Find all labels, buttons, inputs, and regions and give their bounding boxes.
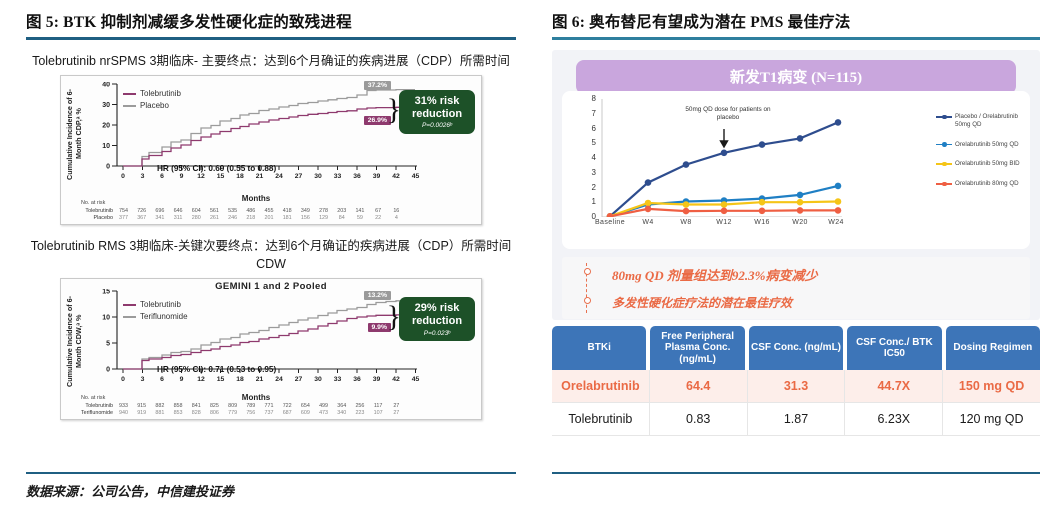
km-chart-2-ylabel: Cumulative Incidence of 6-Month CDW,ᵃ % [65, 291, 87, 391]
svg-text:12: 12 [197, 173, 205, 180]
t1-chart-x-ticks: Baseline W4 W8 W12 W16 W20 W24 [600, 219, 842, 233]
study-1-heading: Tolebrutinib nrSPMS 3期临床- 主要终点：达到6个月确证的疾… [26, 52, 516, 70]
cell-orelabrutinib-name: Orelabrutinib [552, 370, 650, 403]
svg-text:15: 15 [217, 173, 225, 180]
cell-tolebrutinib-dosing: 120 mg QD [943, 403, 1040, 436]
svg-text:18: 18 [236, 173, 244, 180]
svg-text:27: 27 [295, 173, 303, 180]
km-chart-1-legend: Tolebrutinib Placebo [123, 88, 181, 112]
study-2-heading: Tolebrutinib RMS 3期临床-关键次要终点：达到6个月确证的疾病进… [26, 237, 516, 273]
svg-text:24: 24 [275, 376, 283, 383]
svg-text:6: 6 [160, 173, 164, 180]
figure-6-title: 图 6: 奥布替尼有望成为潜在 PMS 最佳疗法 [552, 10, 1040, 36]
at-risk-table-2: No. at risk Tolebrutinib 933915882858841… [67, 395, 477, 417]
btki-comparison-table: BTKi Free Peripheral Plasma Conc.(ng/mL)… [552, 326, 1040, 436]
svg-text:30: 30 [102, 102, 110, 109]
cell-orelabrutinib-csf: 31.3 [748, 370, 846, 403]
legend-swatch-teriflunomide [123, 316, 136, 318]
km-chart-2-legend: Tolebrutinib Teriflunomide [123, 299, 188, 323]
figure-5-footer-rule [26, 472, 516, 474]
at-risk-row-name: Teriflunomide [67, 410, 113, 417]
figure-5-panel: 图 5: BTK 抑制剂减缓多发性硬化症的致残进程 Tolebrutinib n… [0, 0, 530, 510]
legend-item-placebo-orelabrutinib: Placebo / Orelabrutinib 50mg QD [936, 113, 1022, 129]
t1-chart-annotation: 50mg QD dose for patients on placebo [680, 106, 776, 123]
at-risk-row-name: Tolebrutinib [67, 208, 113, 215]
at-risk-row-name: Tolebrutinib [67, 403, 113, 410]
cell-tolebrutinib-csf: 1.87 [748, 403, 846, 436]
legend-label-orelabrutinib-50qd: Orelabrutinib 50mg QD [955, 141, 1019, 149]
risk-reduction-pvalue-2: P=0.023ᵇ [401, 330, 473, 337]
legend-label-tolebrutinib: Tolebrutinib [140, 88, 181, 100]
t1-lesion-card: 新发T1病变 (N=115) 876 543 210 [552, 50, 1040, 320]
legend-item-orelabrutinib-80qd: Orelabrutinib 80mg QD [936, 180, 1022, 188]
figure-5-title: 图 5: BTK 抑制剂减缓多发性硬化症的致残进程 [26, 10, 516, 36]
svg-text:42: 42 [392, 376, 400, 383]
svg-text:6: 6 [160, 376, 164, 383]
bullet-marker-icon [584, 297, 591, 304]
risk-reduction-value-1: 31% risk reduction [401, 95, 473, 120]
table-header-dosing-regimen: Dosing Regimen [946, 326, 1040, 370]
key-finding-1-text: 80mg QD 剂量组达到92.3%病变减少 [612, 268, 817, 283]
svg-text:33: 33 [334, 173, 342, 180]
at-risk-values-placebo-1: 3773673413112802612462182011811561298459… [116, 215, 404, 222]
t1-chart-legend: Placebo / Orelabrutinib 50mg QD Orelabru… [936, 113, 1022, 200]
svg-text:36: 36 [353, 376, 361, 383]
table-header-csf-ic50: CSF Conc./ BTK IC50 [847, 326, 941, 370]
svg-text:9: 9 [180, 376, 184, 383]
svg-text:36: 36 [353, 173, 361, 180]
at-risk-values-tolebrutinib-1: 7547266966466045615354864554183492782031… [116, 208, 404, 215]
figure-5-title-rule [26, 37, 516, 40]
svg-text:30: 30 [314, 173, 322, 180]
table-row: Orelabrutinib 64.4 31.3 44.7X 150 mg QD [552, 370, 1040, 403]
risk-reduction-value-2: 29% risk reduction [401, 302, 473, 327]
legend-marker-navy [936, 114, 952, 120]
bullet-marker-icon [584, 268, 591, 275]
key-finding-2-text: 多发性硬化症疗法的潜在最佳疗效 [612, 296, 792, 310]
svg-text:33: 33 [334, 376, 342, 383]
cell-orelabrutinib-dosing: 150 mg QD [943, 370, 1040, 403]
svg-text:24: 24 [275, 173, 283, 180]
svg-text:39: 39 [373, 376, 381, 383]
svg-text:0: 0 [121, 173, 125, 180]
svg-text:10: 10 [102, 315, 110, 322]
svg-text:0: 0 [106, 367, 110, 374]
at-risk-values-teriflunomide-2: 9409198818538288067797567376876094733402… [116, 410, 404, 417]
legend-marker-yellow [936, 161, 952, 167]
risk-reduction-card-2: 29% risk reduction P=0.023ᵇ [399, 297, 475, 341]
svg-text:40: 40 [102, 82, 110, 89]
svg-text:18: 18 [236, 376, 244, 383]
at-risk-row-name: Placebo [67, 215, 113, 222]
svg-text:0: 0 [121, 376, 125, 383]
legend-marker-red [936, 181, 952, 187]
cell-orelabrutinib-plasma: 64.4 [650, 370, 748, 403]
svg-text:27: 27 [295, 376, 303, 383]
at-risk-table-1: No. at risk Tolebrutinib 754726696646604… [67, 200, 477, 222]
cell-orelabrutinib-ic50: 44.7X [845, 370, 943, 403]
legend-label-orelabrutinib-50bid: Orelabrutinib 50mg BID [955, 160, 1020, 168]
key-findings-list: 80mg QD 剂量组达到92.3%病变减少 多发性硬化症疗法的潜在最佳疗效 [562, 257, 1030, 319]
table-header-btki: BTKi [552, 326, 646, 370]
table-header-csf-conc: CSF Conc. (ng/mL) [749, 326, 843, 370]
svg-text:45: 45 [412, 376, 420, 383]
cell-tolebrutinib-ic50: 6.23X [845, 403, 943, 436]
legend-marker-blue [936, 142, 952, 148]
svg-text:21: 21 [256, 376, 264, 383]
svg-text:3: 3 [141, 173, 145, 180]
svg-text:10: 10 [102, 143, 110, 150]
risk-reduction-pvalue-1: P=0.0026ᵇ [401, 122, 473, 129]
hazard-ratio-text-2: HR (95% CI): 0.71 (0.53 to 0.95) [157, 365, 276, 374]
at-risk-label-1: No. at risk [67, 200, 477, 207]
figure-6-footer-rule [552, 472, 1040, 474]
svg-text:15: 15 [217, 376, 225, 383]
at-risk-values-tolebrutinib-2: 9339158828588418258097897717226544993642… [116, 403, 404, 410]
study-2-block: Tolebrutinib RMS 3期临床-关键次要终点：达到6个月确证的疾病进… [26, 237, 516, 420]
svg-text:20: 20 [102, 123, 110, 130]
risk-reduction-card-1: 31% risk reduction P=0.0026ᵇ [399, 90, 475, 134]
figure-6-title-rule [552, 37, 1040, 40]
endpoint-badge-placebo-1: 37.2% [364, 81, 391, 90]
svg-text:42: 42 [392, 173, 400, 180]
figure-6-panel: 图 6: 奥布替尼有望成为潜在 PMS 最佳疗法 新发T1病变 (N=115) … [530, 0, 1060, 510]
svg-text:0: 0 [106, 164, 110, 171]
t1-lesion-header: 新发T1病变 (N=115) [576, 60, 1016, 94]
table-header-row: BTKi Free Peripheral Plasma Conc.(ng/mL)… [552, 326, 1040, 370]
km-chart-2: GEMINI 1 and 2 Pooled Cumulative Inciden… [60, 278, 482, 420]
legend-label-teriflunomide: Teriflunomide [140, 311, 188, 323]
figure-5-source-note: 数据来源：公司公告，中信建投证券 [26, 481, 234, 500]
svg-text:5: 5 [106, 341, 110, 348]
t1-lesion-chart: 876 543 210 [562, 91, 1030, 249]
svg-text:9: 9 [180, 173, 184, 180]
legend-label-placebo-orelabrutinib: Placebo / Orelabrutinib 50mg QD [955, 113, 1022, 129]
report-page: 图 5: BTK 抑制剂减缓多发性硬化症的致残进程 Tolebrutinib n… [0, 0, 1060, 510]
legend-item-orelabrutinib-50bid: Orelabrutinib 50mg BID [936, 160, 1022, 168]
table-header-free-plasma-conc: Free Peripheral Plasma Conc.(ng/mL) [650, 326, 744, 370]
legend-swatch-placebo [123, 105, 136, 107]
svg-text:3: 3 [141, 376, 145, 383]
legend-item-orelabrutinib-50qd: Orelabrutinib 50mg QD [936, 141, 1022, 149]
key-finding-2: 多发性硬化症疗法的潜在最佳疗效 [576, 294, 1020, 311]
cell-tolebrutinib-name: Tolebrutinib [552, 403, 650, 436]
legend-label-orelabrutinib-80qd: Orelabrutinib 80mg QD [955, 180, 1019, 188]
svg-text:15: 15 [102, 289, 110, 296]
legend-label-tolebrutinib-2: Tolebrutinib [140, 299, 181, 311]
svg-text:39: 39 [373, 173, 381, 180]
legend-swatch-tolebrutinib [123, 93, 136, 95]
svg-text:30: 30 [314, 376, 322, 383]
km-chart-1-ylabel: Cumulative Incidence of 6-Month CDP,ᵃ % [65, 84, 87, 184]
svg-text:12: 12 [197, 376, 205, 383]
key-finding-1: 80mg QD 剂量组达到92.3%病变减少 [576, 265, 1020, 284]
table-row: Tolebrutinib 0.83 1.87 6.23X 120 mg QD [552, 403, 1040, 436]
cell-tolebrutinib-plasma: 0.83 [650, 403, 748, 436]
hazard-ratio-text-1: HR (95% CI): 0.69 (0.55 to 0.88) [157, 164, 276, 173]
legend-swatch-tolebrutinib-2 [123, 304, 136, 306]
svg-text:21: 21 [256, 173, 264, 180]
svg-text:45: 45 [412, 173, 420, 180]
study-1-block: Tolebrutinib nrSPMS 3期临床- 主要终点：达到6个月确证的疾… [26, 52, 516, 225]
endpoint-badge-teriflunomide-2: 13.2% [364, 291, 391, 300]
at-risk-label-2: No. at risk [67, 395, 477, 402]
legend-label-placebo: Placebo [140, 100, 169, 112]
km-chart-1: Cumulative Incidence of 6-Month CDP,ᵃ % … [60, 75, 482, 225]
